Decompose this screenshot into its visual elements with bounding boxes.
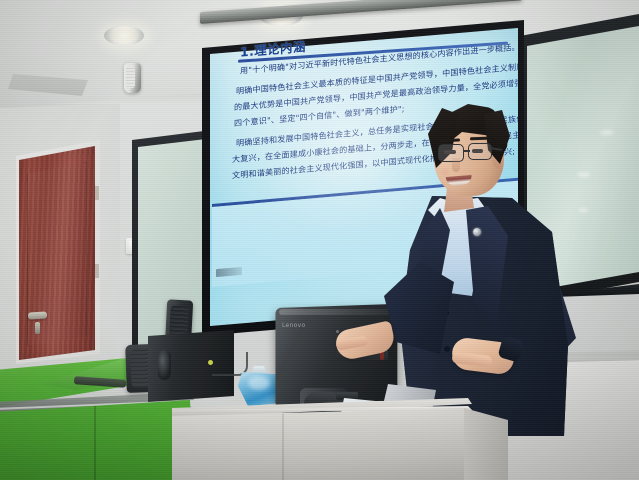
lecture-hall-photo: 1.理论内涵 用"十个明确"对习近平新时代特色社会主义思想的核心内容作出进一步概… <box>0 0 639 480</box>
ceiling-downlight-glow <box>110 29 138 41</box>
door-hinge <box>95 264 99 278</box>
door-handle[interactable] <box>28 312 47 320</box>
blazer-button <box>444 346 450 352</box>
monitor-screw <box>336 330 339 333</box>
monitor-brand-label: Lenovo <box>282 322 305 329</box>
glasses-bridge <box>463 150 470 152</box>
subwoofer-led <box>208 360 213 365</box>
podium-panel-seam <box>282 414 284 480</box>
whiteboard-light-reflection <box>577 172 590 177</box>
monitor-top-edge <box>279 309 391 315</box>
whiteboard-light-reflection <box>578 208 589 212</box>
wall-speaker-grill <box>126 66 135 88</box>
presenter-eyebrow <box>470 137 488 141</box>
whiteboard-light-reflection <box>600 130 614 135</box>
satellite-speaker-grill <box>169 306 189 337</box>
presenter-nose <box>452 158 460 172</box>
podium-front-panel <box>172 408 472 480</box>
glasses-lens-icon <box>468 143 492 160</box>
door-lock[interactable] <box>35 322 40 334</box>
green-desk-front-panel <box>0 400 194 480</box>
desk-panel-seam <box>94 406 96 480</box>
lapel-pin-icon <box>473 228 481 236</box>
door-hinge <box>95 186 99 200</box>
bag-highlight <box>248 376 270 390</box>
subwoofer-port <box>158 350 171 380</box>
glasses-lens-icon <box>438 144 464 162</box>
